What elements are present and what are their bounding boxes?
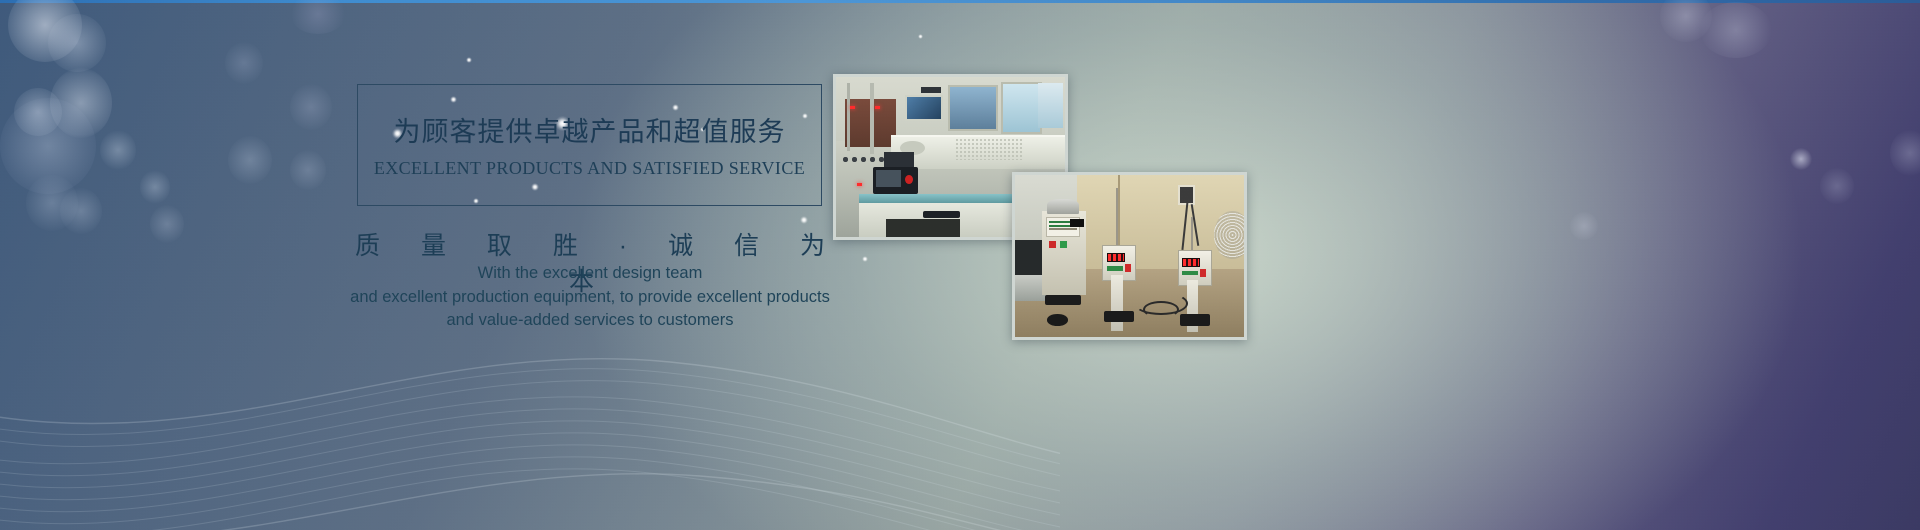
photo-2-content — [1015, 175, 1244, 337]
indicator-light — [857, 183, 862, 186]
bokeh-circle — [1700, 2, 1772, 58]
brand-label — [1182, 271, 1198, 276]
bokeh-circle — [48, 14, 106, 72]
bokeh-circle — [290, 0, 346, 34]
bokeh-circle — [1820, 168, 1854, 204]
bokeh-circle — [1790, 148, 1812, 170]
red-button — [1049, 241, 1056, 247]
press-base — [1180, 314, 1210, 325]
photo-press-machines — [1012, 172, 1247, 340]
bokeh-circle — [8, 0, 82, 62]
body-line: With the excellent design team — [300, 262, 880, 286]
bokeh-circle — [1660, 0, 1712, 42]
headline-chinese: 为顾客提供卓越产品和超值服务 — [357, 110, 822, 149]
window — [948, 85, 998, 131]
work-pad — [1045, 295, 1082, 305]
window — [1001, 82, 1042, 134]
bokeh-circle — [225, 42, 263, 84]
bokeh-circle — [50, 68, 112, 138]
bokeh-circle — [26, 175, 78, 231]
green-button — [1060, 241, 1067, 247]
bokeh-circle — [290, 84, 332, 130]
indicator-light — [875, 106, 880, 109]
bokeh-circle — [60, 188, 102, 234]
fan — [1214, 211, 1244, 260]
emergency-stop-button — [905, 175, 913, 185]
sparkle — [800, 216, 808, 224]
machine-cap — [1047, 199, 1079, 214]
body-line: and value-added services to customers — [300, 309, 880, 333]
bokeh-circle — [1570, 212, 1598, 240]
power-switch — [1125, 264, 1131, 272]
dark-equipment — [1015, 240, 1042, 276]
bokeh-circle — [14, 88, 62, 136]
led-counter — [1182, 258, 1200, 268]
press-base — [1104, 311, 1134, 322]
body-line: and excellent production equipment, to p… — [300, 286, 880, 310]
support-post — [870, 83, 874, 153]
side-panel — [884, 152, 914, 168]
indicator-light — [850, 106, 855, 109]
power-switch — [1200, 269, 1206, 277]
digital-display — [1070, 219, 1084, 227]
bokeh-circle — [0, 98, 96, 194]
body-copy: With the excellent design team and excel… — [300, 262, 880, 333]
press-rod — [1191, 217, 1193, 253]
press-column — [1111, 275, 1122, 330]
led-counter — [1107, 253, 1125, 263]
brand-label — [1107, 266, 1123, 271]
window — [1038, 83, 1063, 128]
wall-sign — [921, 87, 942, 93]
drawer-handle — [923, 211, 960, 217]
bokeh-circle — [140, 170, 170, 204]
top-accent-line — [0, 0, 1920, 3]
support-post — [847, 83, 850, 150]
sparkle — [918, 34, 923, 39]
monitor-screen — [905, 95, 943, 121]
bokeh-circle — [150, 205, 184, 243]
bokeh-circle — [290, 150, 326, 190]
bokeh-circle — [228, 136, 272, 184]
desk-opening — [886, 219, 959, 237]
promo-banner: 为顾客提供卓越产品和超值服务 EXCELLENT PRODUCTS AND SA… — [0, 0, 1920, 530]
bokeh-circle — [100, 130, 136, 170]
console-screen — [876, 170, 901, 188]
vent-grille — [955, 138, 1024, 160]
sparkle — [466, 57, 472, 63]
bokeh-circle — [1890, 130, 1920, 176]
rubber-disc — [1047, 314, 1068, 325]
headline-english: EXCELLENT PRODUCTS AND SATISFIED SERVICE — [357, 158, 822, 179]
press-rod — [1116, 188, 1118, 250]
